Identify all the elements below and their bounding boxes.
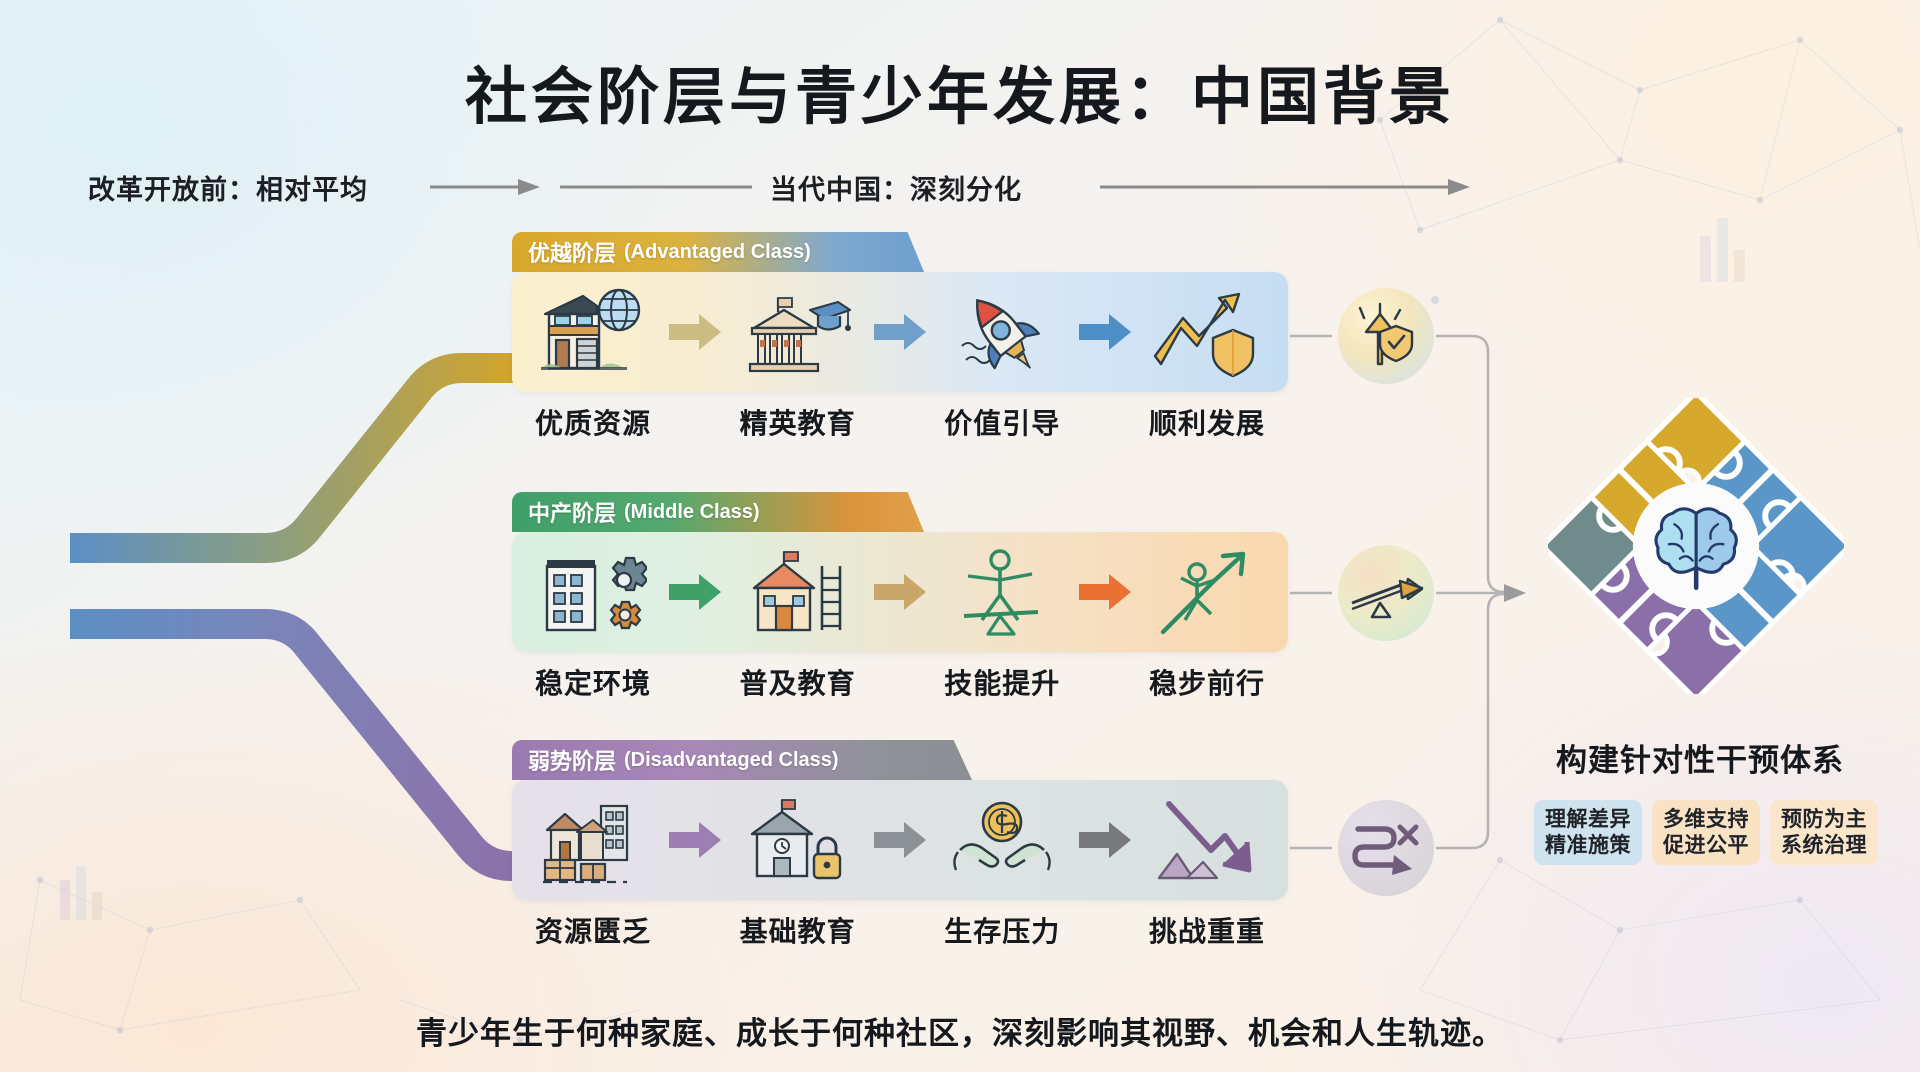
class-row-advantaged: 优越阶层 (Advantaged Class) — [512, 232, 1288, 448]
step-icon-person-climbing-arrow-icon — [1148, 542, 1266, 642]
class-name-cn: 中产阶层 — [528, 496, 616, 528]
class-name-en: (Disadvantaged Class) — [624, 749, 839, 772]
intervention-badge: 理解差异 精准施策 — [1534, 800, 1642, 865]
intervention-badge: 多维支持 促进公平 — [1652, 800, 1760, 865]
intervention-badge: 预防为主 系统治理 — [1770, 800, 1878, 865]
step-label: 价值引导 — [943, 402, 1061, 448]
step-arrow-icon — [870, 817, 930, 863]
step-icon-school-ladder-icon — [739, 542, 857, 642]
step-icon-university-graduation-cap-icon — [739, 282, 857, 382]
step-icon-old-houses-boxes-icon — [534, 790, 652, 890]
timeline-arrow-icon — [0, 168, 1920, 204]
outcome-icon-seesaw-arrow-icon — [1338, 545, 1434, 641]
step-label: 技能提升 — [943, 662, 1061, 708]
badge-line-2: 促进公平 — [1663, 833, 1749, 859]
footer-caption: 青少年生于何种家庭、成长于何种社区，深刻影响其视野、机会和人生轨迹。 — [0, 1008, 1920, 1053]
class-header-advantaged: 优越阶层 (Advantaged Class) — [512, 232, 924, 272]
step-label: 普及教育 — [739, 662, 857, 708]
step-label: 稳步前行 — [1148, 662, 1266, 708]
step-arrow-icon — [870, 569, 930, 615]
step-arrow-icon — [1075, 569, 1135, 615]
badge-line-2: 系统治理 — [1781, 833, 1867, 859]
page-title: 社会阶层与青少年发展：中国背景 — [0, 46, 1920, 136]
step-label: 生存压力 — [943, 910, 1061, 956]
step-label: 资源匮乏 — [534, 910, 652, 956]
class-row-middle: 中产阶层 (Middle Class) — [512, 492, 1288, 708]
step-label: 优质资源 — [534, 402, 652, 448]
class-row-disadvantaged: 弱势阶层 (Disadvantaged Class) — [512, 740, 1288, 956]
class-band-middle — [512, 532, 1288, 652]
step-labels-middle: 稳定环境 普及教育 技能提升 稳步前行 — [512, 662, 1288, 708]
badge-line-2: 精准施策 — [1545, 833, 1631, 859]
class-name-en: (Middle Class) — [624, 501, 760, 524]
step-icon-apartment-gears-icon — [534, 542, 652, 642]
step-label: 精英教育 — [739, 402, 857, 448]
step-icon-hands-coin-icon — [943, 790, 1061, 890]
step-arrow-icon — [665, 309, 725, 355]
step-label: 稳定环境 — [534, 662, 652, 708]
step-label: 挑战重重 — [1148, 910, 1266, 956]
step-arrow-icon — [665, 817, 725, 863]
class-name-cn: 弱势阶层 — [528, 744, 616, 776]
intervention-badges: 理解差异 精准施策 多维支持 促进公平 预防为主 系统治理 — [1500, 800, 1912, 865]
class-name-en: (Advantaged Class) — [624, 241, 811, 264]
step-icon-school-lock-icon — [739, 790, 857, 890]
step-icon-balance-person-icon — [943, 542, 1061, 642]
step-arrow-icon — [1075, 309, 1135, 355]
step-icon-villa-globe-icon — [534, 282, 652, 382]
step-arrow-icon — [665, 569, 725, 615]
step-icon-down-arrow-obstacles-icon — [1148, 790, 1266, 890]
badge-line-1: 预防为主 — [1781, 807, 1867, 833]
step-icon-rising-arrow-shield-icon — [1148, 282, 1266, 382]
step-labels-advantaged: 优质资源 精英教育 价值引导 顺利发展 — [512, 402, 1288, 448]
class-band-advantaged — [512, 272, 1288, 392]
outcome-icon-zigzag-blocked-arrow-icon — [1338, 800, 1434, 896]
intervention-puzzle-diagram — [1548, 398, 1844, 694]
class-name-cn: 优越阶层 — [528, 236, 616, 268]
step-label: 基础教育 — [739, 910, 857, 956]
outcome-icon-arrow-up-shield-check-icon — [1338, 288, 1434, 384]
step-label: 顺利发展 — [1148, 402, 1266, 448]
badge-line-1: 理解差异 — [1545, 807, 1631, 833]
class-header-middle: 中产阶层 (Middle Class) — [512, 492, 924, 532]
timeline-row: 改革开放前：相对平均 当代中国：深刻分化 — [0, 168, 1920, 204]
step-arrow-icon — [1075, 817, 1135, 863]
step-arrow-icon — [870, 309, 930, 355]
step-icon-rocket-icon — [943, 282, 1061, 382]
badge-line-1: 多维支持 — [1663, 807, 1749, 833]
class-band-disadvantaged — [512, 780, 1288, 900]
step-labels-disadvantaged: 资源匮乏 基础教育 生存压力 挑战重重 — [512, 910, 1288, 956]
class-header-disadvantaged: 弱势阶层 (Disadvantaged Class) — [512, 740, 972, 780]
outcome-title: 构建针对性干预体系 — [1500, 735, 1900, 780]
